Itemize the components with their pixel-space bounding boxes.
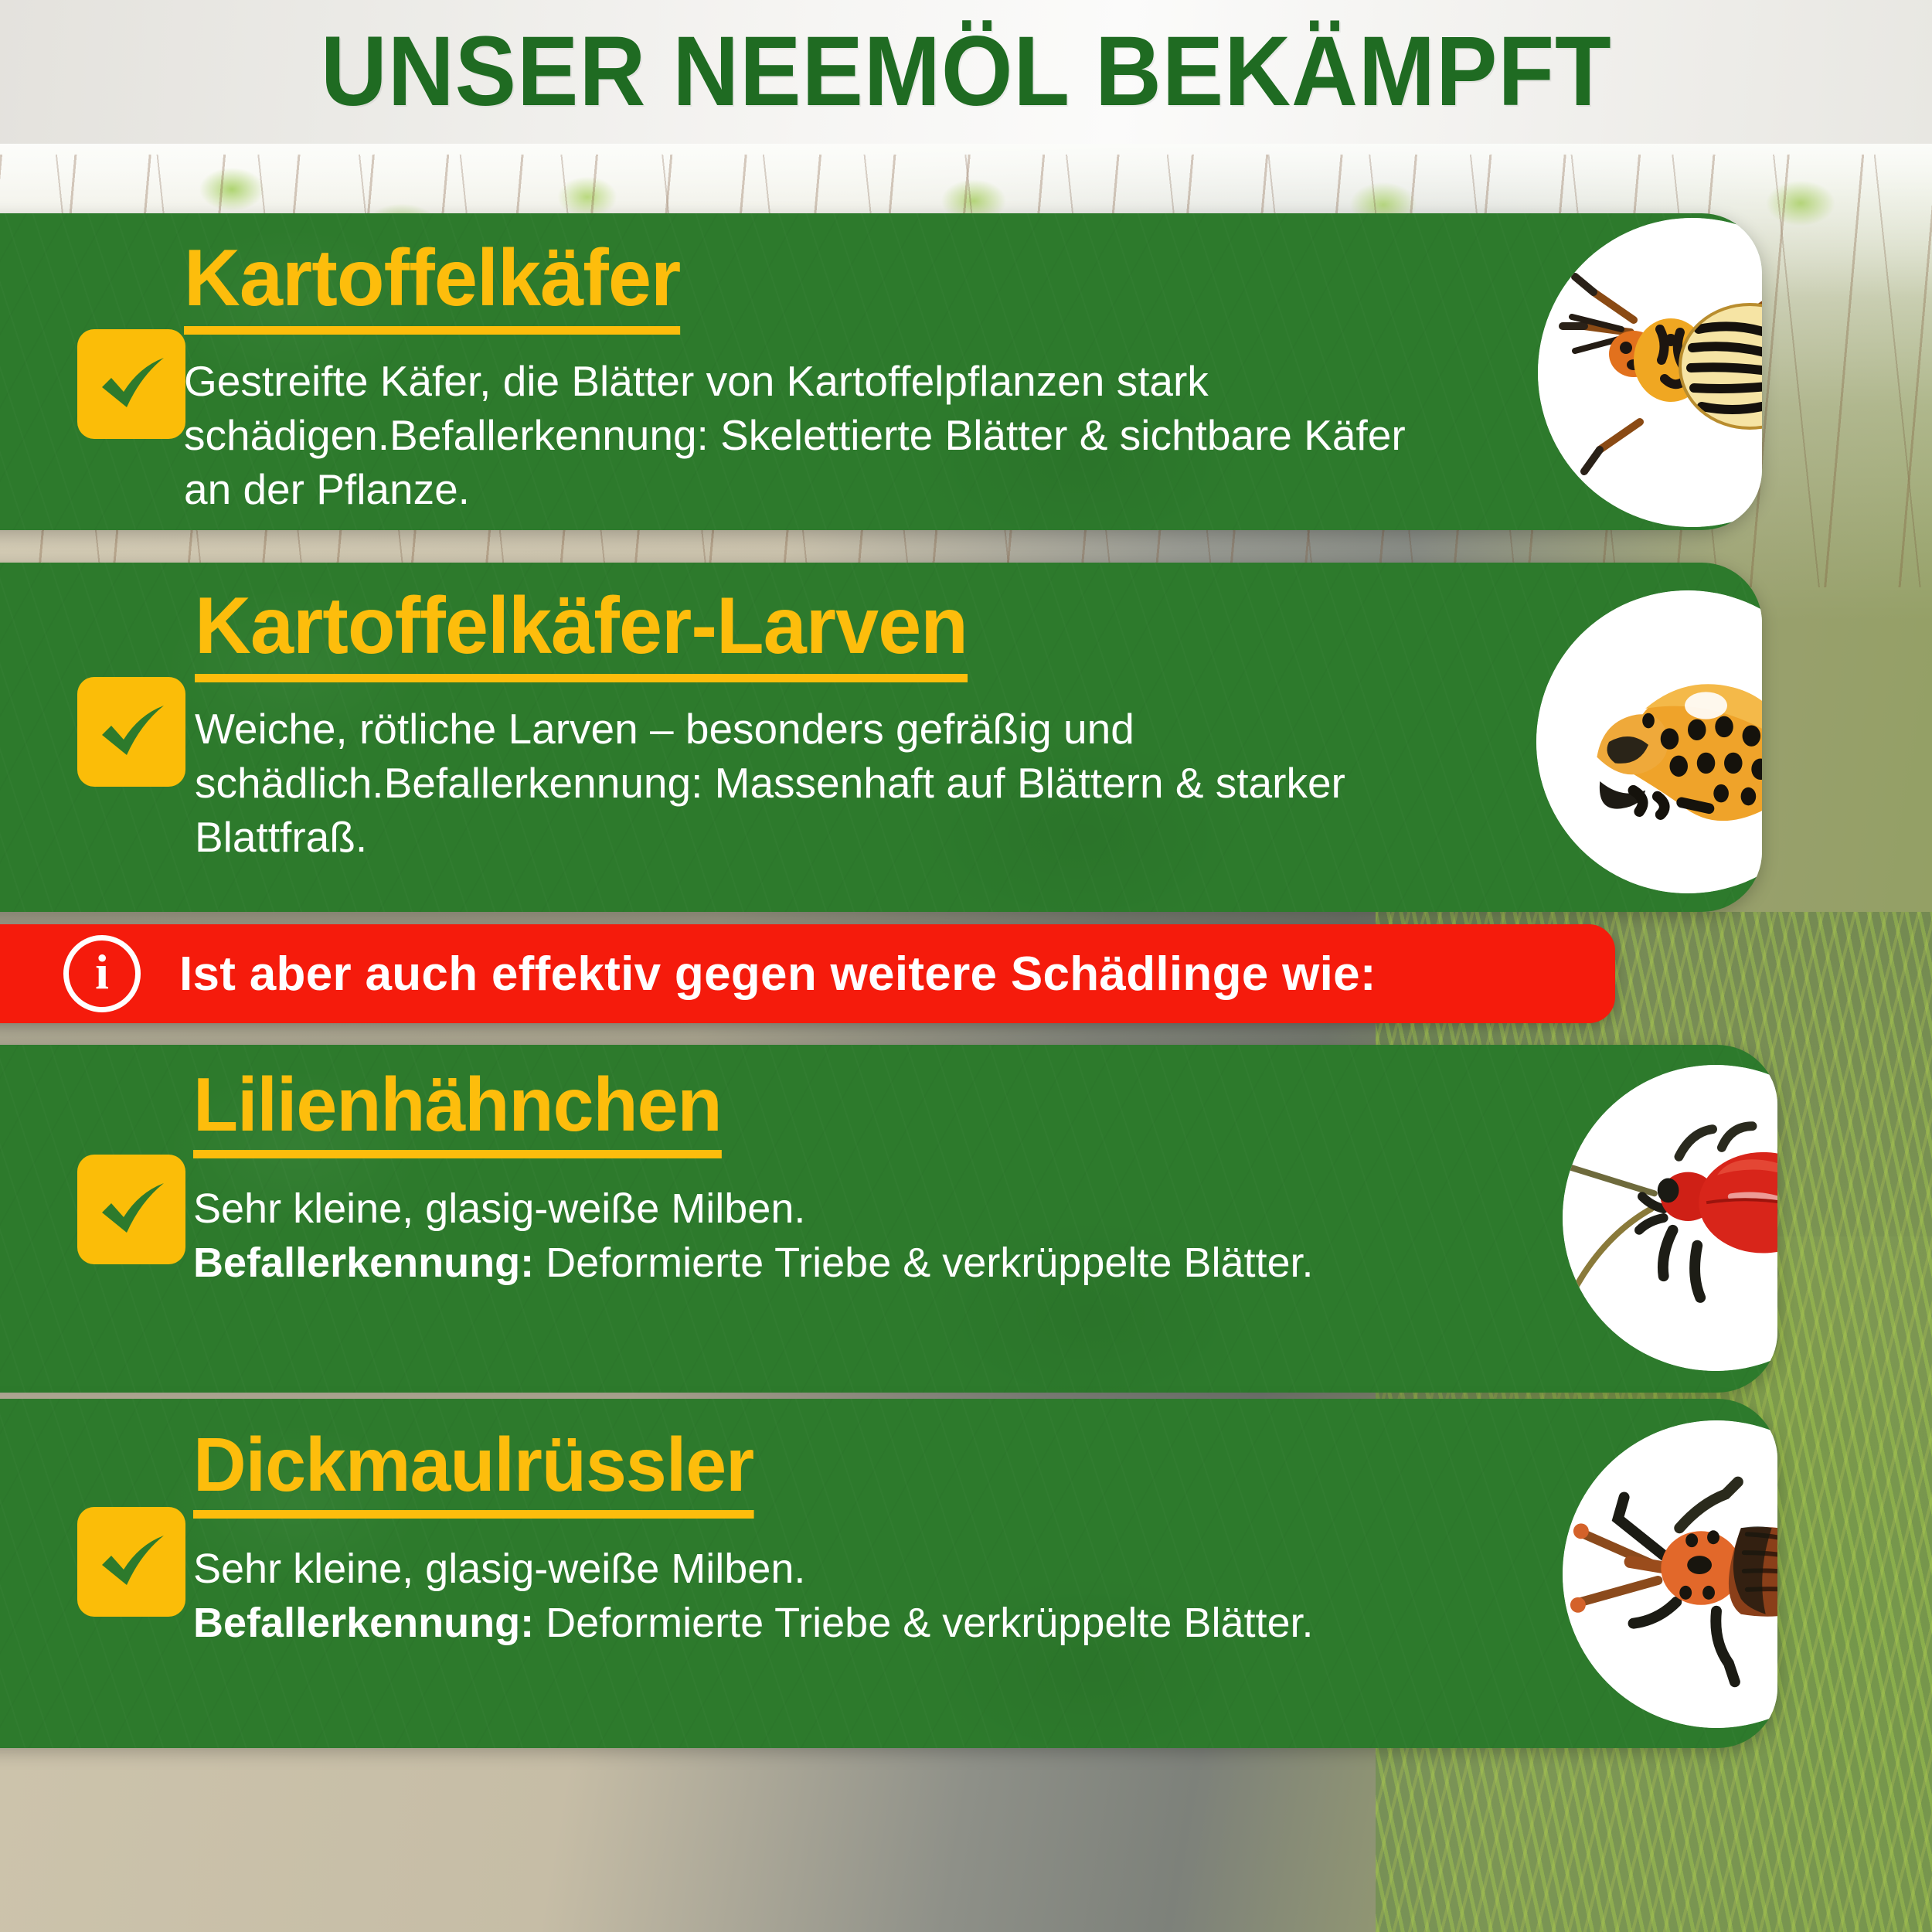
page-header: UNSER NEEMÖL BEKÄMPFT bbox=[0, 0, 1932, 144]
check-icon bbox=[77, 1507, 185, 1617]
pest-description-line2: Befallerkennung: Deformierte Triebe & ve… bbox=[193, 1596, 1600, 1650]
pest-detection-value: Deformierte Triebe & verkrüppelte Blätte… bbox=[534, 1600, 1313, 1646]
pest-description-line1: Sehr kleine, glasig-weiße Milben. bbox=[193, 1182, 1600, 1236]
pest-card-text: Kartoffelkäfer Gestreifte Käfer, die Blä… bbox=[184, 238, 1451, 517]
pest-card-text: Dickmaulrüssler Sehr kleine, glasig-weiß… bbox=[193, 1427, 1600, 1650]
vine-weevil-photo bbox=[1563, 1420, 1777, 1728]
page-title: UNSER NEEMÖL BEKÄMPFT bbox=[321, 22, 1612, 121]
colorado-potato-beetle-photo bbox=[1538, 218, 1762, 527]
info-banner: i Ist aber auch effektiv gegen weitere S… bbox=[0, 924, 1615, 1023]
pest-description: Sehr kleine, glasig-weiße Milben. Befall… bbox=[193, 1182, 1600, 1290]
pest-detection-label: Befallerkennung: bbox=[193, 1600, 534, 1646]
pest-card-lilienhaehnchen: Lilienhähnchen Sehr kleine, glasig-weiße… bbox=[0, 1045, 1777, 1393]
info-icon-glyph: i bbox=[95, 947, 109, 997]
pest-description-line1: Sehr kleine, glasig-weiße Milben. bbox=[193, 1542, 1600, 1596]
potato-beetle-larva-photo bbox=[1536, 590, 1762, 893]
info-banner-text: Ist aber auch effektiv gegen weitere Sch… bbox=[179, 947, 1376, 1002]
pest-description: Sehr kleine, glasig-weiße Milben. Befall… bbox=[193, 1542, 1600, 1650]
pest-description: Weiche, rötliche Larven – besonders gefr… bbox=[195, 702, 1462, 865]
pest-card-text: Kartoffelkäfer-Larven Weiche, rötliche L… bbox=[195, 586, 1462, 865]
check-icon bbox=[77, 677, 185, 787]
pest-title: Lilienhähnchen bbox=[193, 1066, 722, 1158]
pest-detection-label: Befallerkennung: bbox=[193, 1240, 534, 1286]
pest-card-kartoffelkaefer-larven: Kartoffelkäfer-Larven Weiche, rötliche L… bbox=[0, 563, 1762, 912]
lily-beetle-photo bbox=[1563, 1065, 1777, 1371]
pest-detection-value: Deformierte Triebe & verkrüppelte Blätte… bbox=[534, 1240, 1313, 1286]
pest-card-dickmaulruessler: Dickmaulrüssler Sehr kleine, glasig-weiß… bbox=[0, 1399, 1777, 1748]
pest-description: Gestreifte Käfer, die Blätter von Kartof… bbox=[184, 355, 1451, 517]
pest-title: Dickmaulrüssler bbox=[193, 1427, 753, 1519]
check-icon bbox=[77, 1155, 185, 1264]
pest-card-text: Lilienhähnchen Sehr kleine, glasig-weiße… bbox=[193, 1066, 1600, 1290]
info-icon: i bbox=[63, 935, 141, 1012]
pest-card-kartoffelkaefer: Kartoffelkäfer Gestreifte Käfer, die Blä… bbox=[0, 213, 1762, 530]
pest-description-line2: Befallerkennung: Deformierte Triebe & ve… bbox=[193, 1236, 1600, 1290]
pest-title: Kartoffelkäfer bbox=[184, 238, 680, 335]
check-icon bbox=[77, 329, 185, 439]
pest-title: Kartoffelkäfer-Larven bbox=[195, 586, 968, 682]
